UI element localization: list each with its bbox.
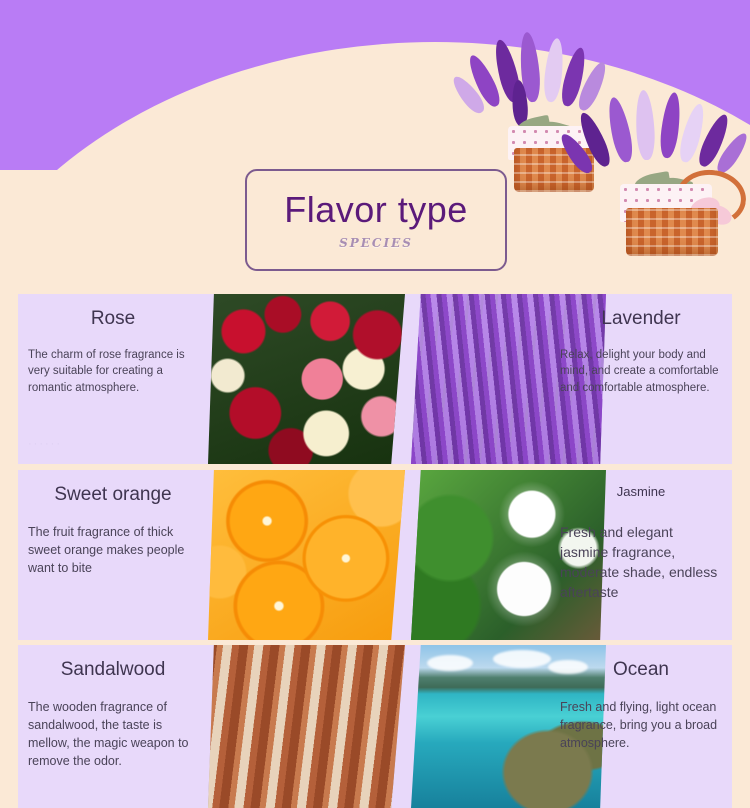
flavor-title-sweet-orange: Sweet orange [28, 484, 198, 507]
flavor-row-rose-lavender: Rose The charm of rose fragrance is very… [18, 294, 732, 464]
flavor-description-ocean: Fresh and flying, light ocean fragrance,… [560, 698, 722, 752]
flavor-card-ocean: Ocean Fresh and flying, light ocean frag… [546, 645, 732, 808]
flavor-card-jasmine: Jasmine Fresh and elegant jasmine fragra… [546, 470, 732, 640]
lavender-spike [634, 90, 656, 161]
roses-bouquet-photo [208, 294, 405, 464]
flavor-title-ocean: Ocean [560, 659, 722, 682]
flavor-description-rose: The charm of rose fragrance is very suit… [28, 347, 198, 397]
page-title-card: Flavor type SPECIES [245, 169, 507, 271]
flavor-title-sandalwood: Sandalwood [28, 659, 198, 682]
flavor-title-jasmine: Jasmine [560, 484, 722, 500]
flavor-row-sandalwood-ocean: Sandalwood The wooden fragrance of sanda… [18, 645, 732, 808]
cloud-shape [427, 655, 473, 671]
flavor-description-sandalwood: The wooden fragrance of sandalwood, the … [28, 698, 198, 771]
flavor-description-lavender: Relax, delight your body and mind, and c… [560, 347, 722, 397]
flavor-description-sweet-orange: The fruit fragrance of thick sweet orang… [28, 523, 198, 577]
page-title: Flavor type [284, 190, 468, 230]
flavor-card-lavender: Lavender Relax, delight your body and mi… [546, 294, 732, 464]
bouquet-front [578, 74, 743, 246]
orange-slices-photo [208, 470, 405, 640]
flavor-card-sandalwood: Sandalwood The wooden fragrance of sanda… [18, 645, 208, 808]
wicker-basket [626, 208, 718, 256]
cloud-shape [493, 650, 551, 668]
flavor-title-rose: Rose [28, 308, 198, 331]
flavor-title-lavender: Lavender [560, 308, 722, 331]
row-photos [208, 470, 546, 640]
lavender-baskets-photo [466, 26, 750, 246]
flavor-card-sweet-orange: Sweet orange The fruit fragrance of thic… [18, 470, 208, 640]
flavor-description-jasmine: Fresh and elegant jasmine fragrance, mod… [560, 522, 722, 603]
row-photos [208, 645, 546, 808]
flavor-row-orange-jasmine: Sweet orange The fruit fragrance of thic… [18, 470, 732, 640]
basket-weave [626, 208, 718, 256]
flavor-card-rose: Rose The charm of rose fragrance is very… [18, 294, 208, 464]
watermark-text: ······ [28, 438, 62, 450]
page-subtitle: SPECIES [339, 236, 413, 250]
sandalwood-logs-photo [208, 645, 405, 808]
row-photos [208, 294, 546, 464]
